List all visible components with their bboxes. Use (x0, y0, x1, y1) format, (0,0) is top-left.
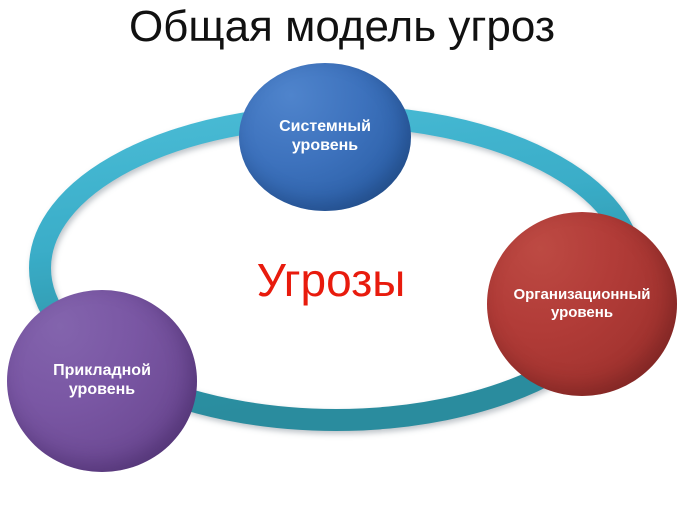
node-applied-level-line2: уровень (53, 381, 151, 400)
center-label-threats: Угрозы (216, 253, 446, 307)
node-applied-level-line1: Прикладной (53, 362, 151, 381)
node-organizational-level-text: Организационный уровень (513, 286, 650, 321)
node-organizational-level-line2: уровень (513, 304, 650, 322)
node-system-level[interactable]: Системный уровень (239, 63, 411, 211)
node-system-level-text: Системный уровень (279, 118, 371, 156)
node-applied-level-text: Прикладной уровень (53, 362, 151, 400)
node-system-level-line1: Системный (279, 118, 371, 137)
node-organizational-level-line1: Организационный (513, 286, 650, 304)
node-applied-level[interactable]: Прикладной уровень (7, 290, 197, 472)
diagram-canvas: Общая модель угроз Угрозы Системный ур (0, 0, 684, 522)
node-organizational-level[interactable]: Организационный уровень (487, 212, 677, 396)
node-system-level-line2: уровень (279, 137, 371, 156)
